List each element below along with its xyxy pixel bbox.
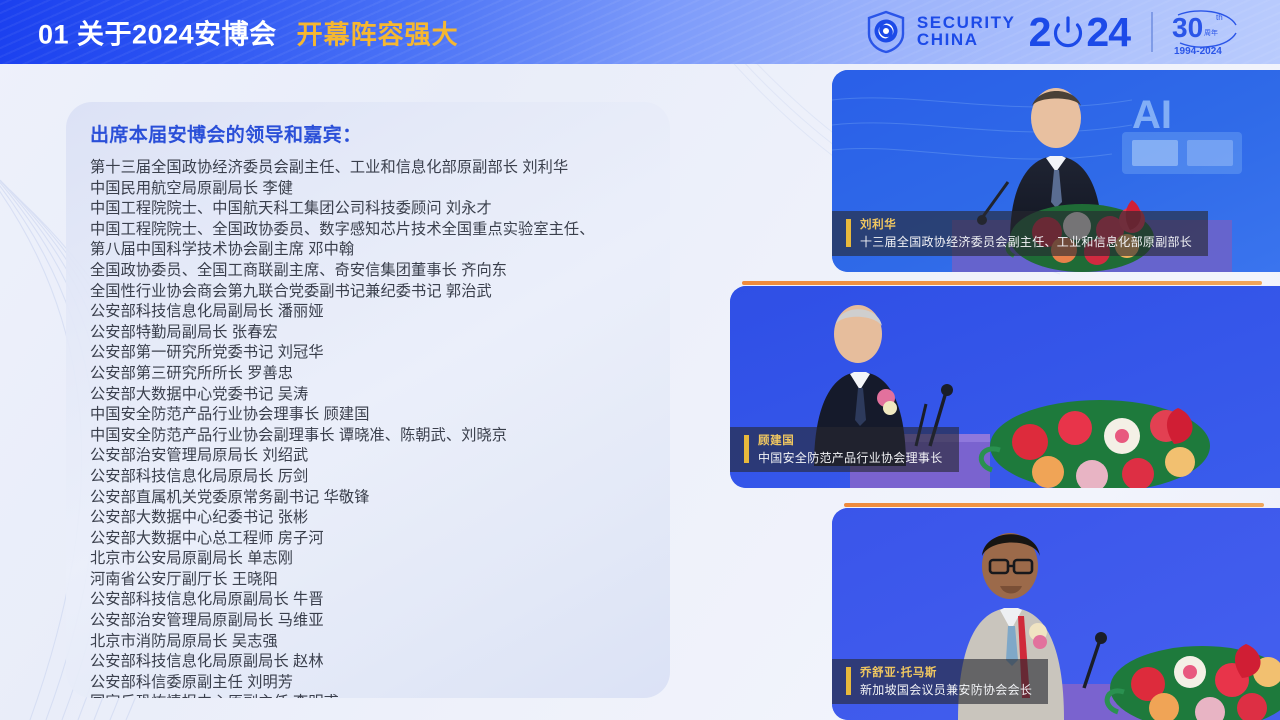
- list-item: 中国工程院院士、全国政协委员、数字感知芯片技术全国重点实验室主任、: [90, 220, 654, 241]
- event-logo: SECURITY CHINA 2 24 30 th 周年: [866, 7, 1248, 57]
- page-title-accent: 开幕阵容强大: [297, 15, 459, 52]
- list-item: 公安部治安管理局原副局长 马维亚: [90, 611, 654, 632]
- list-item: 北京市公安局原副局长 单志刚: [90, 549, 654, 570]
- page-title: 01 关于2024安博会 开幕阵容强大: [38, 13, 459, 52]
- caption-accent-bar: [846, 667, 851, 695]
- photo-liu-lihua[interactable]: AI: [832, 70, 1280, 272]
- caption-title: 十三届全国政协经济委员会副主任、工业和信息化部原副部长: [860, 233, 1192, 250]
- list-item: 公安部科技信息化局原副局长 赵林: [90, 652, 654, 673]
- list-item: 公安部特勤局副局长 张春宏: [90, 323, 654, 344]
- list-item: 公安部科技信息化局原副局长 牛晋: [90, 590, 654, 611]
- caption-title: 新加坡国会议员兼安防协会会长: [860, 681, 1032, 698]
- list-item: 公安部大数据中心总工程师 房子河: [90, 529, 654, 550]
- caption-name: 乔舒亚·托马斯: [860, 664, 1032, 680]
- caption-accent-bar: [744, 435, 749, 463]
- page-title-main: 01 关于2024安博会: [38, 13, 277, 52]
- list-item: 公安部科技信息化局副局长 潘丽娅: [90, 302, 654, 323]
- list-item: 公安部直属机关党委原常务副书记 华敬锋: [90, 488, 654, 509]
- guest-list: 第十三届全国政协经济委员会副主任、工业和信息化部原副部长 刘利华 中国民用航空局…: [90, 158, 654, 698]
- logo-divider: [1151, 12, 1153, 52]
- logo-year: 2 24: [1029, 9, 1130, 56]
- list-item: 公安部治安管理局原局长 刘绍武: [90, 446, 654, 467]
- list-item: 公安部科技信息化局原局长 厉剑: [90, 467, 654, 488]
- list-item: 中国民用航空局原副局长 李健: [90, 179, 654, 200]
- list-item: 第八届中国科学技术协会副主席 邓中翰: [90, 240, 654, 261]
- list-item: 中国工程院院士、中国航天科工集团公司科技委顾问 刘永才: [90, 199, 654, 220]
- guest-list-heading: 出席本届安博会的领导和嘉宾：: [90, 120, 654, 147]
- list-item: 北京市消防局原局长 吴志强: [90, 632, 654, 653]
- svg-text:AI: AI: [1132, 93, 1172, 137]
- list-item: 公安部大数据中心纪委书记 张彬: [90, 508, 654, 529]
- photo-2-orange-accent-strip: [742, 281, 1262, 285]
- photo-caption: 乔舒亚·托马斯 新加坡国会议员兼安防协会会长: [832, 659, 1048, 704]
- list-item: 全国政协委员、全国工商联副主席、奇安信集团董事长 齐向东: [90, 261, 654, 282]
- caption-title: 中国安全防范产品行业协会理事长: [758, 449, 943, 466]
- list-item: 公安部第三研究所所长 罗善忠: [90, 364, 654, 385]
- svg-text:周年: 周年: [1204, 28, 1218, 37]
- caption-name: 顾建国: [758, 432, 943, 448]
- logo-wordmark: SECURITY CHINA: [917, 15, 1016, 48]
- list-item: 全国性行业协会商会第九联合党委副书记兼纪委书记 郭治武: [90, 282, 654, 303]
- svg-text:30: 30: [1172, 12, 1203, 43]
- list-item: 公安部科信委原副主任 刘明芳: [90, 673, 654, 694]
- photo-joshua-thomas[interactable]: 乔舒亚·托马斯 新加坡国会议员兼安防协会会长: [832, 508, 1280, 720]
- list-item: 公安部大数据中心党委书记 吴涛: [90, 385, 654, 406]
- list-item: 河南省公安厅副厅长 王晓阳: [90, 570, 654, 591]
- list-item: 中国安全防范产品行业协会理事长 顾建国: [90, 405, 654, 426]
- photo-caption: 顾建国 中国安全防范产品行业协会理事长: [730, 427, 959, 472]
- logo-line-china: CHINA: [917, 32, 1016, 49]
- list-item: 公安部第一研究所党委书记 刘冠华: [90, 343, 654, 364]
- guest-list-card: 出席本届安博会的领导和嘉宾： 第十三届全国政协经济委员会副主任、工业和信息化部原…: [66, 102, 670, 698]
- caption-accent-bar: [846, 219, 851, 247]
- caption-name: 刘利华: [860, 216, 1192, 232]
- list-item: 国家反恐怖情报中心原副主任 李明甫: [90, 693, 654, 698]
- list-item: 中国安全防范产品行业协会副理事长 谭晓准、陈朝武、刘晓京: [90, 426, 654, 447]
- list-item: 第十三届全国政协经济委员会副主任、工业和信息化部原副部长 刘利华: [90, 158, 654, 179]
- svg-text:1994-2024: 1994-2024: [1174, 46, 1222, 57]
- logo-year-prefix: 2: [1029, 9, 1051, 56]
- photo-3-orange-accent-strip: [844, 503, 1264, 507]
- header-bar: 01 关于2024安博会 开幕阵容强大 SECURITY CHINA 2: [0, 0, 1280, 64]
- logo-year-suffix: 24: [1086, 9, 1130, 56]
- power-button-icon: [1051, 14, 1085, 50]
- photo-caption: 刘利华 十三届全国政协经济委员会副主任、工业和信息化部原副部长: [832, 211, 1208, 256]
- security-shield-icon: [866, 10, 906, 54]
- photo-gu-jianguo[interactable]: 顾建国 中国安全防范产品行业协会理事长: [730, 286, 1280, 488]
- slide-root: 01 关于2024安博会 开幕阵容强大 SECURITY CHINA 2: [0, 0, 1280, 720]
- anniversary-badge-icon: 30 th 周年 1994-2024: [1170, 7, 1248, 57]
